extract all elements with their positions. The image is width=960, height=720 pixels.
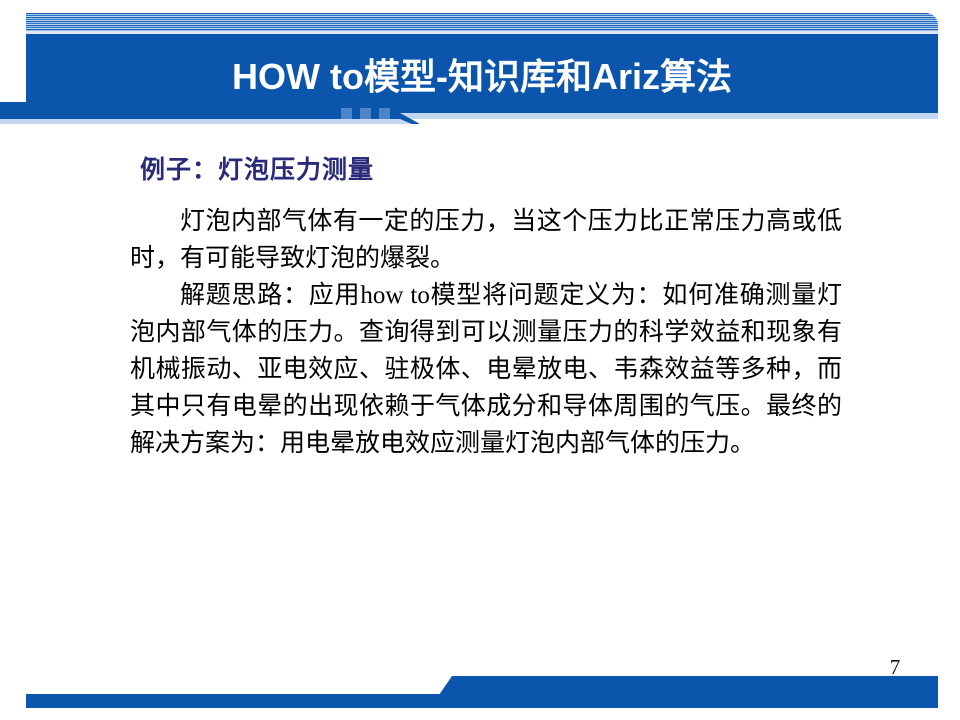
presentation-slide: HOW to模型-知识库和Ariz算法 例子：灯泡压力测量 灯泡内部气体有一定的…	[0, 0, 960, 720]
header-diagonal-tab-shadow	[0, 119, 420, 124]
body-paragraph-2: 解题思路：应用how to模型将问题定义为：如何准确测量灯泡内部气体的压力。查询…	[130, 277, 842, 462]
header-stripe-band	[26, 13, 938, 31]
footer-bar-upper	[430, 676, 938, 708]
slide-subtitle: 例子：灯泡压力测量	[140, 150, 374, 186]
body-paragraph-1: 灯泡内部气体有一定的压力，当这个压力比正常压力高或低时，有可能导致灯泡的爆裂。	[130, 203, 842, 277]
slide-body: 灯泡内部气体有一定的压力，当这个压力比正常压力高或低时，有可能导致灯泡的爆裂。 …	[130, 203, 842, 462]
slide-header: HOW to模型-知识库和Ariz算法	[0, 0, 960, 132]
slide-title: HOW to模型-知识库和Ariz算法	[26, 34, 938, 113]
